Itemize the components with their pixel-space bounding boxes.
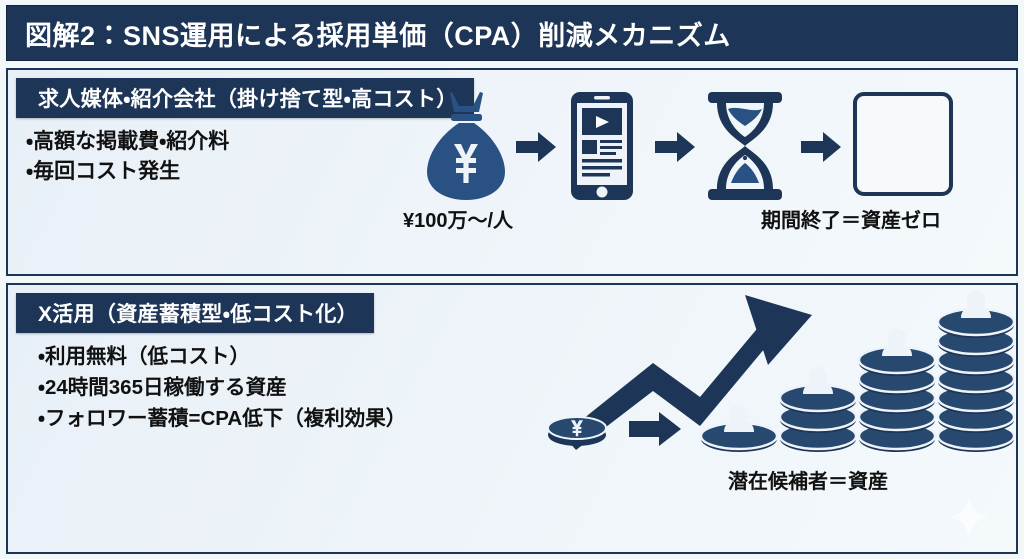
page-title-bar: 図解2：SNS運用による採用単価（CPA）削減メカニズム bbox=[6, 5, 1018, 61]
single-coin-yen-icon bbox=[548, 417, 606, 446]
cost-flow-svg bbox=[403, 88, 1013, 206]
panel-cost-section: 求人媒体・紹介会社（掛け捨て型・高コスト） ・高額な掲載費・紹介料 ・毎回コスト… bbox=[6, 68, 1018, 276]
section-header-cost-label: 求人媒体・紹介会社（掛け捨て型・高コスト） bbox=[38, 83, 458, 113]
section-header-x-label: X活用（資産蓄積型・低コスト化） bbox=[38, 298, 358, 328]
arrow-right-icon bbox=[516, 132, 556, 162]
flow-caption-cost: ¥100万〜/人 bbox=[403, 204, 513, 233]
arrow-right-icon bbox=[801, 132, 841, 162]
section-header-x: X活用（資産蓄積型・低コスト化） bbox=[16, 293, 374, 333]
coin-stack-person-icon bbox=[701, 405, 777, 453]
money-bag-yen-icon bbox=[427, 92, 505, 200]
empty-box-icon bbox=[855, 94, 951, 194]
growth-graphic: 潜在候補者＝資産 bbox=[530, 287, 1018, 505]
page-title: 図解2：SNS運用による採用単価（CPA）削減メカニズム bbox=[25, 14, 731, 53]
arrow-right-icon bbox=[655, 132, 695, 162]
coin-stack-person-icon bbox=[859, 329, 935, 453]
flow-caption-zero: 期間終了＝資産ゼロ bbox=[761, 204, 941, 233]
growth-caption: 潜在候補者＝資産 bbox=[728, 465, 888, 494]
hourglass-icon bbox=[708, 92, 782, 200]
coin-stack-person-icon bbox=[938, 291, 1014, 453]
arrow-right-icon bbox=[629, 412, 681, 446]
smartphone-video-ad-icon bbox=[571, 92, 633, 200]
growth-svg bbox=[530, 287, 1018, 487]
panel-x-section: X活用（資産蓄積型・低コスト化） ・利用無料（低コスト） ・24時間365日稼働… bbox=[6, 283, 1018, 554]
cost-flow-graphic: ¥100万〜/人 期間終了＝資産ゼロ bbox=[403, 88, 1013, 263]
coin-stack-person-icon bbox=[780, 367, 856, 453]
diagram-page: 図解2：SNS運用による採用単価（CPA）削減メカニズム 求人媒体・紹介会社（掛… bbox=[0, 0, 1024, 559]
